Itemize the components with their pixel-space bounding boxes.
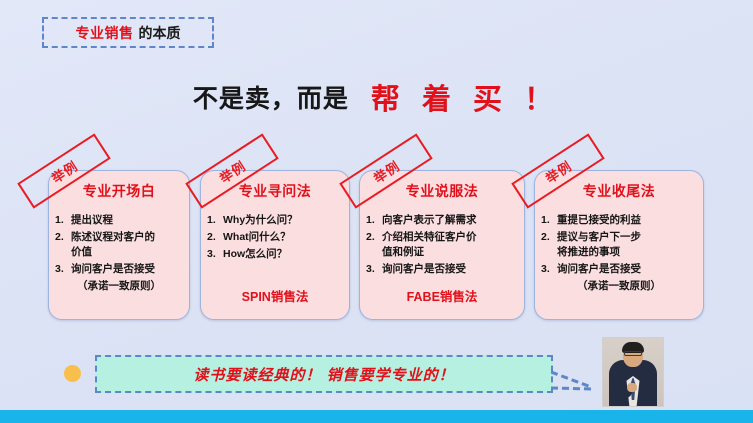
list-item-text: How怎么问？ — [223, 248, 287, 260]
slogan-banner: 读书要读经典的！ 销售要学专业的！ — [95, 355, 553, 393]
list-item-number: 2. — [207, 230, 223, 245]
bullet-dot-icon — [64, 365, 81, 382]
list-item-number: 2. — [366, 230, 382, 245]
subtitle-black-text: 的本质 — [139, 23, 181, 43]
list-item: 1.Why为什么问？ — [201, 213, 349, 228]
list-item: 1.重提已接受的利益 — [535, 213, 703, 228]
photo-hand — [627, 383, 637, 392]
list-item-number: 1. — [207, 213, 223, 228]
concept-card[interactable]: 专业开场白 1.提出议程 2.陈述议程对客户的 价值 3.询问客户是否接受 （承… — [48, 170, 190, 320]
concept-card[interactable]: 专业说服法 1.向客户表示了解需求 2.介绍相关特征客户价 值和例证 3.询问客… — [359, 170, 525, 320]
headline-black-part: 不是卖，而是 — [193, 85, 349, 113]
list-item-text: 询问客户是否接受 — [382, 263, 466, 275]
list-item: 3.询问客户是否接受 — [49, 262, 189, 277]
card-item-list: 1.重提已接受的利益 2.提议与客户下一步 将推进的事项 3.询问客户是否接受 — [535, 213, 703, 277]
list-item-number: 3. — [366, 262, 382, 277]
list-item-subtext: 值和例证 — [382, 245, 524, 260]
card-method-label: FABE销售法 — [360, 286, 524, 305]
footer-bar — [0, 410, 753, 423]
list-item: 3.How怎么问？ — [201, 247, 349, 262]
list-item-text: 向客户表示了解需求 — [382, 214, 477, 226]
card-footer-note: （承诺一致原则） — [535, 279, 703, 294]
list-item-subtext: 将推进的事项 — [557, 245, 703, 260]
list-item-number: 1. — [541, 213, 557, 228]
list-item-number: 2. — [541, 230, 557, 245]
list-item-number: 3. — [55, 262, 71, 277]
list-item-text: Why为什么问？ — [223, 214, 298, 226]
list-item-text: 询问客户是否接受 — [557, 263, 641, 275]
page-title: 不是卖，而是帮 着 买 ！ — [0, 76, 753, 118]
card-item-list: 1.提出议程 2.陈述议程对客户的 价值 3.询问客户是否接受 — [49, 213, 189, 277]
photo-glasses-icon — [624, 351, 642, 356]
list-item-number: 3. — [541, 262, 557, 277]
slogan-text: 读书要读经典的！ 销售要学专业的！ — [193, 364, 454, 385]
headline-red-part: 帮 着 买 ！ — [371, 84, 560, 116]
list-item-text: 介绍相关特征客户价 — [382, 231, 477, 243]
card-method-label: SPIN销售法 — [201, 286, 349, 305]
slide-subtitle-chip: 专业销售 的本质 — [42, 17, 214, 48]
slide-canvas: 专业销售 的本质 不是卖，而是帮 着 买 ！ 专业开场白 1.提出议程 2.陈述… — [0, 0, 753, 423]
list-item-text: What问什么？ — [223, 231, 291, 243]
subtitle-red-text: 专业销售 — [76, 23, 134, 43]
list-item-number: 1. — [55, 213, 71, 228]
callout-tail-icon — [551, 370, 597, 392]
list-item: 3.询问客户是否接受 — [535, 262, 703, 277]
list-item: 2.陈述议程对客户的 价值 — [49, 230, 189, 260]
list-item: 2.介绍相关特征客户价 值和例证 — [360, 230, 524, 260]
list-item-text: 重提已接受的利益 — [557, 214, 641, 226]
list-item: 3.询问客户是否接受 — [360, 262, 524, 277]
speaker-photo — [602, 337, 664, 407]
list-item-text: 询问客户是否接受 — [71, 263, 155, 275]
card-item-list: 1.Why为什么问？ 2.What问什么？ 3.How怎么问？ — [201, 213, 349, 262]
list-item-text: 提议与客户下一步 — [557, 231, 641, 243]
list-item-number: 3. — [207, 247, 223, 262]
list-item-text: 提出议程 — [71, 214, 113, 226]
list-item: 1.向客户表示了解需求 — [360, 213, 524, 228]
list-item-number: 2. — [55, 230, 71, 245]
list-item: 2.What问什么？ — [201, 230, 349, 245]
list-item-number: 1. — [366, 213, 382, 228]
list-item-subtext: 价值 — [71, 245, 189, 260]
concept-card[interactable]: 专业收尾法 1.重提已接受的利益 2.提议与客户下一步 将推进的事项 3.询问客… — [534, 170, 704, 320]
list-item: 1.提出议程 — [49, 213, 189, 228]
card-footer-note: （承诺一致原则） — [49, 279, 189, 294]
list-item-text: 陈述议程对客户的 — [71, 231, 155, 243]
list-item: 2.提议与客户下一步 将推进的事项 — [535, 230, 703, 260]
card-item-list: 1.向客户表示了解需求 2.介绍相关特征客户价 值和例证 3.询问客户是否接受 — [360, 213, 524, 277]
